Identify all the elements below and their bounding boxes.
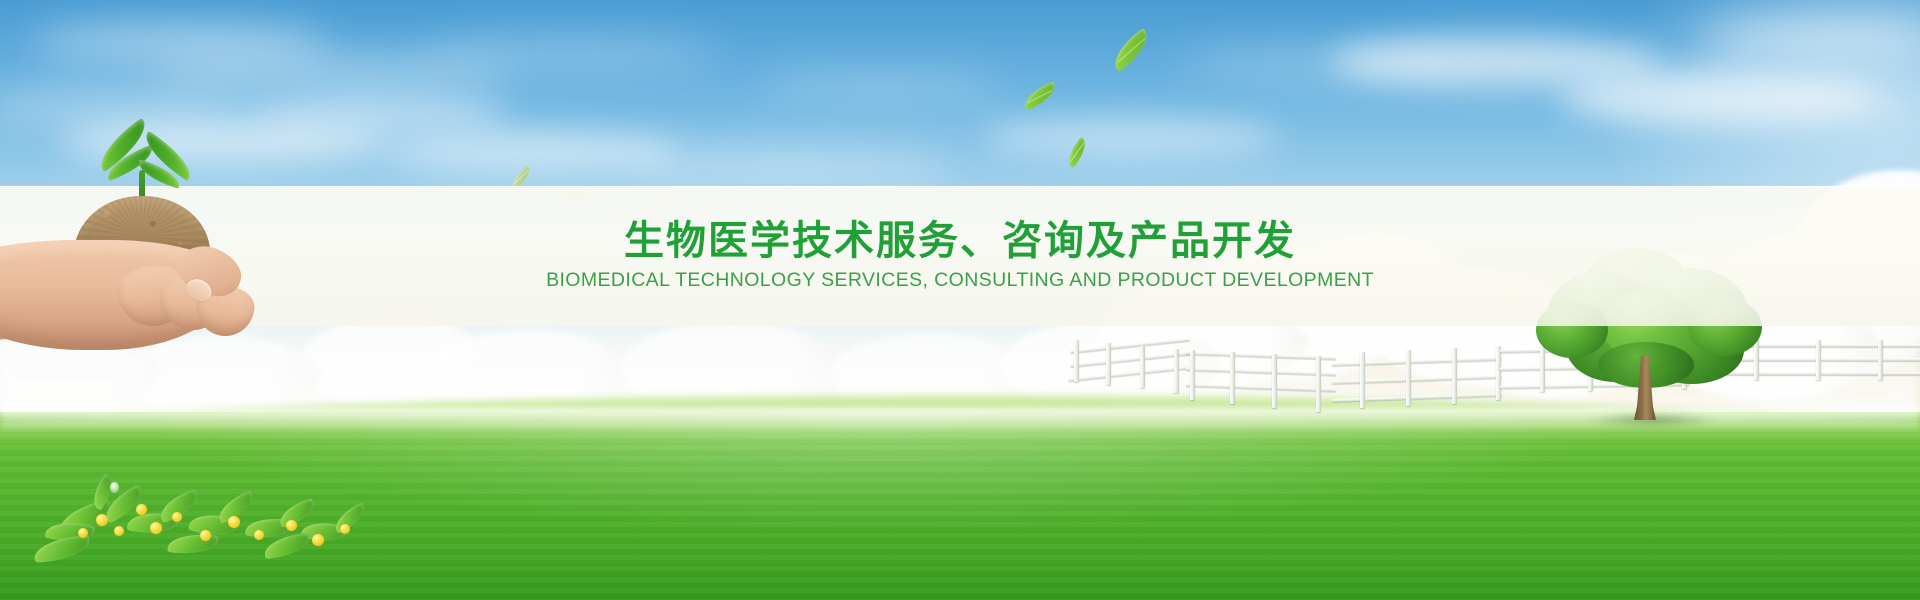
flower-icon (200, 530, 211, 541)
ground-foliage (40, 430, 400, 600)
flower-icon (96, 514, 108, 526)
flower-icon (172, 512, 182, 522)
dew-drop (110, 482, 119, 493)
page-title: 生物医学技术服务、咨询及产品开发 (624, 221, 1296, 261)
flower-icon (150, 522, 162, 534)
hand-with-seedling (0, 140, 300, 390)
flower-icon (312, 534, 324, 546)
flower-icon (286, 520, 297, 531)
flower-icon (78, 528, 88, 538)
flower-icon (114, 526, 124, 536)
page-subtitle: BIOMEDICAL TECHNOLOGY SERVICES, CONSULTI… (546, 271, 1374, 291)
flower-icon (254, 530, 264, 540)
flower-icon (228, 516, 240, 528)
flower-icon (340, 524, 350, 534)
flower-icon (136, 504, 147, 515)
hero-banner: 生物医学技术服务、咨询及产品开发 BIOMEDICAL TECHNOLOGY S… (0, 0, 1920, 600)
